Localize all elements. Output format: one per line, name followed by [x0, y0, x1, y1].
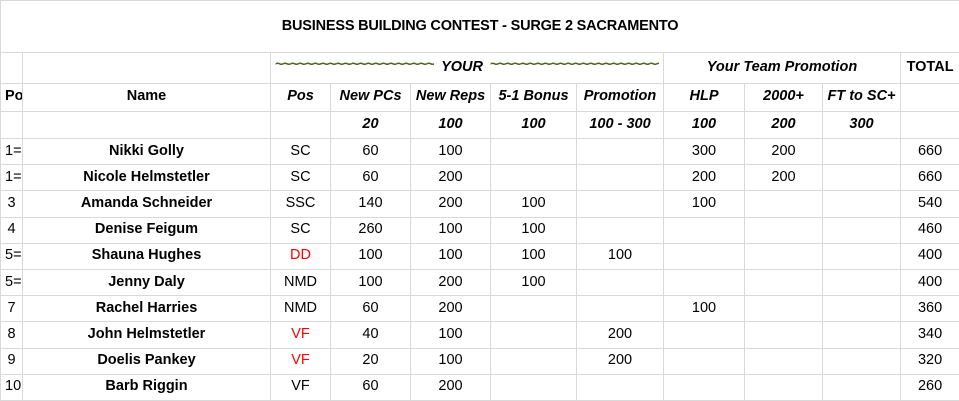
- cell-rank: SC: [271, 165, 331, 191]
- cell-promotion: [577, 139, 664, 165]
- cell-name: Amanda Schneider: [23, 191, 271, 217]
- column-header-rank: Pos: [271, 83, 331, 111]
- cell-total: 660: [901, 165, 959, 191]
- cell-2000-plus: [745, 269, 823, 295]
- table-row[interactable]: 9Doelis PankeyVF20100200320: [1, 348, 959, 374]
- tilde-decoration-right: ~~~~~~~~~~~~~~~~~~~~~~~~~~~~~~~~~~: [490, 60, 659, 74]
- table-row[interactable]: 5=Jenny DalyNMD100200100400: [1, 269, 959, 295]
- cell-2000-plus: [745, 217, 823, 243]
- cell-hlp: 300: [664, 139, 745, 165]
- cell-bonus: 100: [491, 269, 577, 295]
- cell-rank: NMD: [271, 296, 331, 322]
- cell-total: 660: [901, 139, 959, 165]
- points-rank: [271, 111, 331, 138]
- cell-new-reps: 200: [411, 296, 491, 322]
- column-header-new-reps: New Reps: [411, 83, 491, 111]
- points-new-pcs: 20: [331, 111, 411, 138]
- cell-promotion: [577, 217, 664, 243]
- points-new-reps: 100: [411, 111, 491, 138]
- cell-2000-plus: [745, 322, 823, 348]
- cell-new-reps: 200: [411, 165, 491, 191]
- cell-new-pcs: 40: [331, 322, 411, 348]
- cell-bonus: 100: [491, 217, 577, 243]
- column-header-new-pcs: New PCs: [331, 83, 411, 111]
- points-row: 20 100 100 100 - 300 100 200 300: [1, 111, 959, 138]
- cell-ft-to-sc: [823, 322, 901, 348]
- table-row[interactable]: 8John HelmstetlerVF40100200340: [1, 322, 959, 348]
- cell-new-pcs: 60: [331, 374, 411, 400]
- cell-hlp: [664, 217, 745, 243]
- cell-bonus: [491, 165, 577, 191]
- group-header-pos-blank: [1, 53, 23, 83]
- cell-bonus: [491, 348, 577, 374]
- cell-pos: 1=: [1, 139, 23, 165]
- cell-2000-plus: [745, 348, 823, 374]
- cell-new-pcs: 140: [331, 191, 411, 217]
- points-name: [23, 111, 271, 138]
- cell-name: Nicole Helmstetler: [23, 165, 271, 191]
- cell-hlp: 100: [664, 296, 745, 322]
- cell-rank: SC: [271, 217, 331, 243]
- cell-bonus: [491, 296, 577, 322]
- cell-hlp: [664, 269, 745, 295]
- cell-2000-plus: 200: [745, 165, 823, 191]
- points-promotion: 100 - 300: [577, 111, 664, 138]
- cell-rank: NMD: [271, 269, 331, 295]
- cell-hlp: [664, 243, 745, 269]
- cell-new-reps: 200: [411, 269, 491, 295]
- table-row[interactable]: 1=Nikki GollySC60100300200660: [1, 139, 959, 165]
- cell-2000-plus: [745, 243, 823, 269]
- cell-ft-to-sc: [823, 269, 901, 295]
- cell-pos: 3: [1, 191, 23, 217]
- table-row[interactable]: 4Denise FeigumSC260100100460: [1, 217, 959, 243]
- cell-ft-to-sc: [823, 243, 901, 269]
- group-header-team-promotion: Your Team Promotion: [664, 53, 901, 83]
- cell-name: Shauna Hughes: [23, 243, 271, 269]
- cell-new-reps: 100: [411, 243, 491, 269]
- cell-hlp: [664, 374, 745, 400]
- points-ft-to-sc: 300: [823, 111, 901, 138]
- points-total: [901, 111, 959, 138]
- column-header-2000-plus: 2000+: [745, 83, 823, 111]
- cell-hlp: 100: [664, 191, 745, 217]
- cell-2000-plus: 200: [745, 139, 823, 165]
- cell-total: 540: [901, 191, 959, 217]
- table-row[interactable]: 3Amanda SchneiderSSC140200100100540: [1, 191, 959, 217]
- cell-total: 340: [901, 322, 959, 348]
- cell-bonus: [491, 322, 577, 348]
- cell-bonus: [491, 139, 577, 165]
- cell-pos: 10: [1, 374, 23, 400]
- cell-new-pcs: 60: [331, 139, 411, 165]
- cell-ft-to-sc: [823, 348, 901, 374]
- cell-ft-to-sc: [823, 374, 901, 400]
- cell-promotion: [577, 374, 664, 400]
- column-header-promotion: Promotion: [577, 83, 664, 111]
- cell-new-pcs: 100: [331, 243, 411, 269]
- cell-bonus: [491, 374, 577, 400]
- cell-new-reps: 100: [411, 139, 491, 165]
- table-row[interactable]: 5=Shauna HughesDD100100100100400: [1, 243, 959, 269]
- group-header-row: ~~~~~~~~~~~~~~~~~~~~~~~~~~~~~~~~ YOUR ~~…: [1, 53, 959, 83]
- cell-pos: 9: [1, 348, 23, 374]
- tilde-decoration-left: ~~~~~~~~~~~~~~~~~~~~~~~~~~~~~~~~: [275, 60, 434, 74]
- cell-ft-to-sc: [823, 139, 901, 165]
- column-header-total-blank: [901, 83, 959, 111]
- cell-promotion: 200: [577, 322, 664, 348]
- cell-bonus: 100: [491, 243, 577, 269]
- cell-new-reps: 100: [411, 322, 491, 348]
- cell-rank: SSC: [271, 191, 331, 217]
- cell-pos: 5=: [1, 269, 23, 295]
- cell-pos: 5=: [1, 243, 23, 269]
- table-row[interactable]: 7Rachel HarriesNMD60200100360: [1, 296, 959, 322]
- cell-rank: VF: [271, 348, 331, 374]
- column-header-name: Name: [23, 83, 271, 111]
- cell-new-pcs: 20: [331, 348, 411, 374]
- points-hlp: 100: [664, 111, 745, 138]
- spreadsheet-contest-leaderboard: BUSINESS BUILDING CONTEST - SURGE 2 SACR…: [0, 0, 959, 401]
- cell-pos: 7: [1, 296, 23, 322]
- cell-name: Doelis Pankey: [23, 348, 271, 374]
- cell-total: 400: [901, 269, 959, 295]
- cell-hlp: [664, 348, 745, 374]
- cell-new-reps: 200: [411, 374, 491, 400]
- cell-rank: VF: [271, 322, 331, 348]
- cell-promotion: 100: [577, 243, 664, 269]
- table-row[interactable]: 1=Nicole HelmstetlerSC60200200200660: [1, 165, 959, 191]
- points-2000-plus: 200: [745, 111, 823, 138]
- title-row: BUSINESS BUILDING CONTEST - SURGE 2 SACR…: [1, 1, 959, 53]
- cell-rank: DD: [271, 243, 331, 269]
- cell-promotion: [577, 165, 664, 191]
- cell-promotion: [577, 269, 664, 295]
- cell-pos: 4: [1, 217, 23, 243]
- cell-new-reps: 200: [411, 191, 491, 217]
- group-header-your-label: YOUR: [434, 60, 490, 76]
- cell-new-pcs: 260: [331, 217, 411, 243]
- cell-rank: SC: [271, 139, 331, 165]
- cell-hlp: [664, 322, 745, 348]
- table-row[interactable]: 10Barb RigginVF60200260: [1, 374, 959, 400]
- column-header-row: Pos Name Pos New PCs New Reps 5-1 Bonus …: [1, 83, 959, 111]
- group-header-name-blank: [23, 53, 271, 83]
- cell-2000-plus: [745, 191, 823, 217]
- cell-2000-plus: [745, 374, 823, 400]
- cell-total: 260: [901, 374, 959, 400]
- cell-total: 360: [901, 296, 959, 322]
- cell-rank: VF: [271, 374, 331, 400]
- cell-total: 460: [901, 217, 959, 243]
- cell-pos: 8: [1, 322, 23, 348]
- cell-ft-to-sc: [823, 165, 901, 191]
- cell-new-pcs: 60: [331, 165, 411, 191]
- cell-bonus: 100: [491, 191, 577, 217]
- cell-ft-to-sc: [823, 191, 901, 217]
- points-bonus: 100: [491, 111, 577, 138]
- cell-ft-to-sc: [823, 217, 901, 243]
- cell-promotion: 200: [577, 348, 664, 374]
- points-pos: [1, 111, 23, 138]
- cell-promotion: [577, 191, 664, 217]
- group-header-your: ~~~~~~~~~~~~~~~~~~~~~~~~~~~~~~~~ YOUR ~~…: [271, 53, 664, 83]
- cell-name: Jenny Daly: [23, 269, 271, 295]
- cell-2000-plus: [745, 296, 823, 322]
- cell-name: Nikki Golly: [23, 139, 271, 165]
- cell-promotion: [577, 296, 664, 322]
- cell-new-pcs: 60: [331, 296, 411, 322]
- cell-name: Denise Feigum: [23, 217, 271, 243]
- column-header-ft-to-sc: FT to SC+: [823, 83, 901, 111]
- page-title: BUSINESS BUILDING CONTEST - SURGE 2 SACR…: [1, 1, 959, 53]
- cell-new-reps: 100: [411, 348, 491, 374]
- contest-table: BUSINESS BUILDING CONTEST - SURGE 2 SACR…: [0, 0, 959, 401]
- cell-new-reps: 100: [411, 217, 491, 243]
- column-header-pos: Pos: [1, 83, 23, 111]
- cell-name: Rachel Harries: [23, 296, 271, 322]
- cell-name: Barb Riggin: [23, 374, 271, 400]
- cell-name: John Helmstetler: [23, 322, 271, 348]
- cell-total: 320: [901, 348, 959, 374]
- column-header-hlp: HLP: [664, 83, 745, 111]
- cell-pos: 1=: [1, 165, 23, 191]
- column-header-bonus: 5-1 Bonus: [491, 83, 577, 111]
- cell-total: 400: [901, 243, 959, 269]
- group-header-total: TOTAL: [901, 53, 959, 83]
- cell-hlp: 200: [664, 165, 745, 191]
- cell-new-pcs: 100: [331, 269, 411, 295]
- cell-ft-to-sc: [823, 296, 901, 322]
